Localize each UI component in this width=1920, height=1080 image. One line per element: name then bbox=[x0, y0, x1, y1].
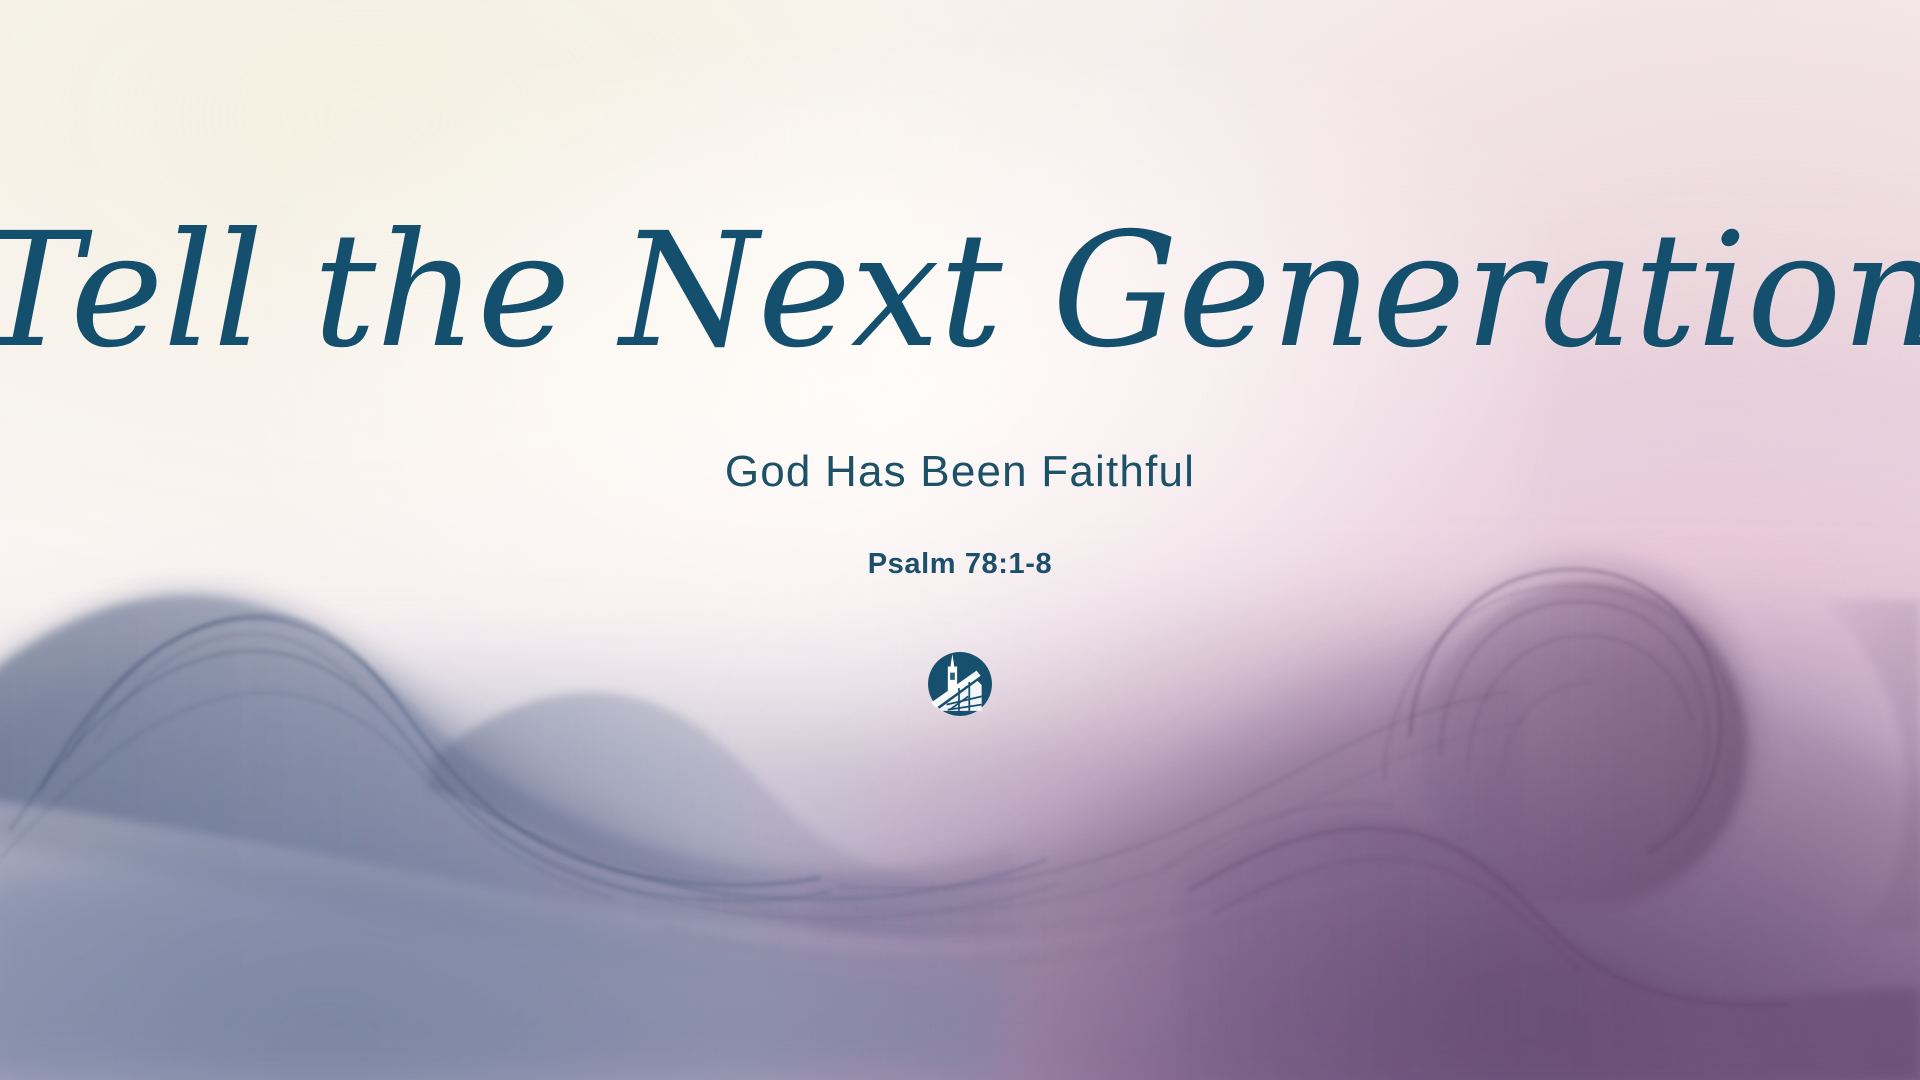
church-steeple-icon bbox=[927, 651, 993, 717]
presentation-slide: Tell the Next Generation God Has Been Fa… bbox=[0, 0, 1920, 1080]
slide-title: Tell the Next Generation bbox=[0, 212, 1920, 370]
slide-content: Tell the Next Generation God Has Been Fa… bbox=[0, 0, 1920, 1080]
church-logo bbox=[927, 651, 993, 717]
slide-subtitle: God Has Been Faithful bbox=[725, 448, 1195, 496]
scripture-reference: Psalm 78:1-8 bbox=[868, 549, 1053, 581]
